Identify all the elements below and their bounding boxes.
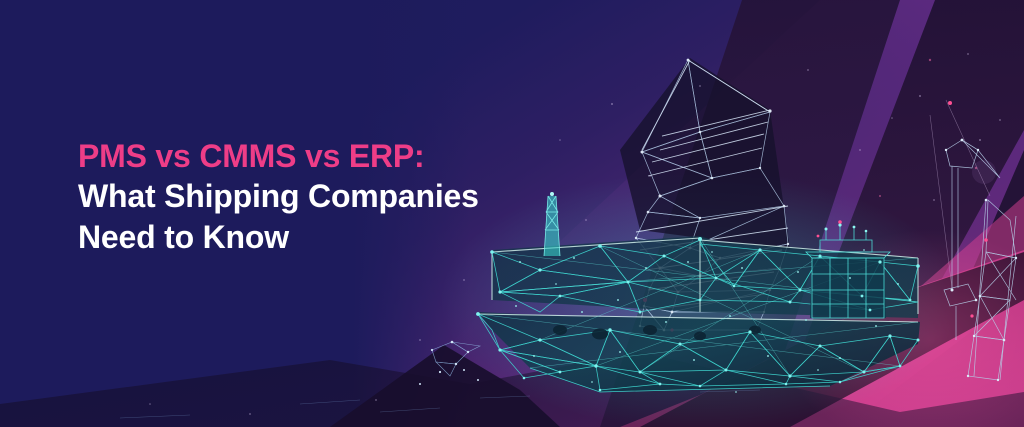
headline-line-1: PMS vs CMMS vs ERP: <box>78 136 479 176</box>
headline-line-2: What Shipping Companies <box>78 176 479 216</box>
headline-block: PMS vs CMMS vs ERP: What Shipping Compan… <box>78 136 479 257</box>
headline-line-3: Need to Know <box>78 217 479 257</box>
bokeh-circle <box>972 160 996 184</box>
hero-banner: PMS vs CMMS vs ERP: What Shipping Compan… <box>0 0 1024 427</box>
